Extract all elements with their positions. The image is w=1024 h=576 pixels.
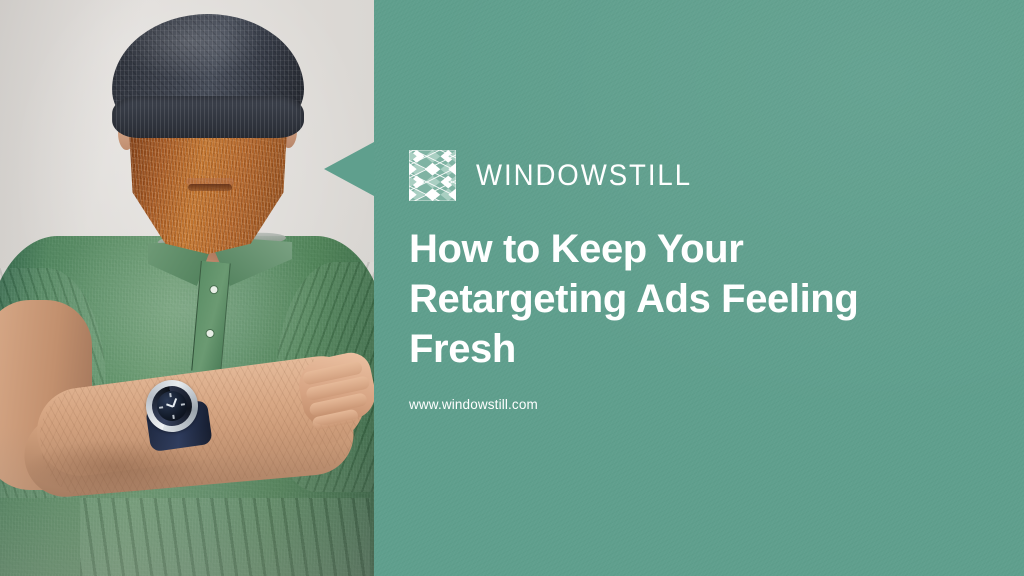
shirt-button — [206, 330, 214, 338]
brand-wordmark: WINDOWSTILL — [476, 161, 692, 191]
watch-tick — [159, 406, 163, 409]
shirt-button — [210, 286, 218, 294]
mouth — [188, 184, 232, 191]
argyle-diamond-lattice-logo-icon — [409, 150, 456, 201]
panel-content: WINDOWSTILL How to Keep Your Retargeting… — [409, 0, 1009, 576]
beanie-brim-texture — [112, 96, 304, 138]
blog-header-banner: WINDOWSTILL How to Keep Your Retargeting… — [0, 0, 1024, 576]
brand-logo[interactable]: WINDOWSTILL — [409, 150, 711, 201]
page-title: How to Keep Your Retargeting Ads Feeling… — [409, 224, 944, 374]
watch-tick — [172, 415, 175, 419]
website-url[interactable]: www.windowstill.com — [409, 397, 538, 412]
portrait-photo — [0, 0, 374, 576]
watch-tick — [169, 393, 172, 397]
green-speech-bubble-panel: WINDOWSTILL How to Keep Your Retargeting… — [374, 0, 1024, 576]
floor-shadow — [0, 426, 374, 576]
watch-tick — [181, 403, 185, 406]
